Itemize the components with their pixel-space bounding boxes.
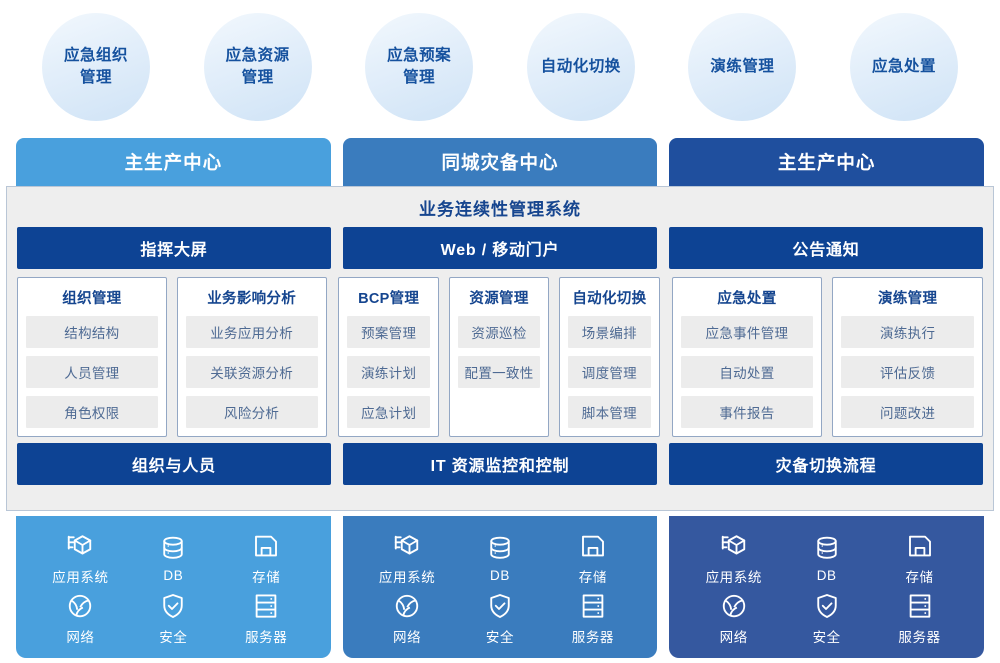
infra-item-storage[interactable]: 存储 — [578, 531, 608, 586]
data-center-header-row: 主生产中心 同城灾备中心 主生产中心 — [16, 138, 984, 190]
module-card-items: 场景编排 调度管理 脚本管理 — [568, 316, 650, 428]
storage-icon — [905, 531, 935, 561]
circle-label-line1: 应急预案 — [387, 45, 451, 67]
module-card-items: 资源巡检 配置一致性 — [458, 316, 540, 388]
infra-item-label: 网络 — [720, 626, 748, 646]
bcm-bottom-bar-row: 组织与人员 IT 资源监控和控制 灾备切换流程 — [7, 443, 993, 485]
module-item[interactable]: 自动处置 — [681, 356, 814, 388]
infra-item-label: 应用系统 — [379, 566, 435, 586]
module-card-drill-management[interactable]: 演练管理 演练执行 评估反馈 问题改进 — [832, 277, 983, 437]
server-rack-icon — [251, 591, 281, 621]
bcm-top-bar-row: 指挥大屏 Web / 移动门户 公告通知 — [7, 227, 993, 269]
module-item[interactable]: 问题改进 — [841, 396, 974, 428]
module-item[interactable]: 预案管理 — [347, 316, 429, 348]
storage-icon — [578, 531, 608, 561]
module-card-title: 业务影响分析 — [186, 287, 318, 308]
storage-icon — [251, 531, 281, 561]
module-card-title: 应急处置 — [681, 287, 814, 308]
module-card-title: 演练管理 — [841, 287, 974, 308]
bcm-bar-web-mobile-portal[interactable]: Web / 移动门户 — [343, 227, 657, 269]
circle-label-line1: 应急组织 — [64, 45, 128, 67]
center-header-primary-production-2[interactable]: 主生产中心 — [669, 138, 984, 190]
module-card-title: BCP管理 — [347, 287, 429, 308]
network-icon — [719, 591, 749, 621]
infra-item-label: 安全 — [813, 626, 841, 646]
bcm-bar-it-resource-monitoring[interactable]: IT 资源监控和控制 — [343, 443, 657, 485]
module-item[interactable]: 演练计划 — [347, 356, 429, 388]
module-card-emergency-response[interactable]: 应急处置 应急事件管理 自动处置 事件报告 — [672, 277, 823, 437]
circle-label-line2: 管理 — [64, 67, 128, 89]
module-item[interactable]: 事件报告 — [681, 396, 814, 428]
capability-circle-emergency-response[interactable]: 应急处置 — [850, 13, 958, 121]
circle-label-line2: 管理 — [387, 67, 451, 89]
capability-circle-emergency-org-management[interactable]: 应急组织 管理 — [42, 13, 150, 121]
security-shield-icon — [812, 591, 842, 621]
infra-item-label: DB — [490, 568, 510, 583]
infrastructure-panel-primary-production: 应用系统 DB — [16, 516, 331, 658]
infra-item-security[interactable]: 安全 — [158, 591, 188, 646]
infra-item-label: 存储 — [579, 566, 607, 586]
module-item[interactable]: 调度管理 — [568, 356, 650, 388]
infra-item-label: 服务器 — [245, 626, 287, 646]
bcm-architecture-diagram: 应急组织 管理 应急资源 管理 应急预案 管理 自动化切换 演练管理 — [0, 0, 1000, 663]
infra-item-label: 安全 — [159, 626, 187, 646]
database-icon — [158, 533, 188, 563]
capability-circle-emergency-resource-management[interactable]: 应急资源 管理 — [204, 13, 312, 121]
infra-item-label: 服务器 — [572, 626, 614, 646]
center-header-primary-production[interactable]: 主生产中心 — [16, 138, 331, 190]
capability-circle-drill-management[interactable]: 演练管理 — [688, 13, 796, 121]
module-item[interactable]: 应急计划 — [347, 396, 429, 428]
module-card-items: 应急事件管理 自动处置 事件报告 — [681, 316, 814, 428]
infrastructure-row: 应用系统 DB — [16, 516, 984, 658]
infrastructure-panel-metro-dr: 应用系统 DB — [343, 516, 658, 658]
infra-item-storage[interactable]: 存储 — [905, 531, 935, 586]
module-card-bcp-management[interactable]: BCP管理 预案管理 演练计划 应急计划 — [338, 277, 438, 437]
security-shield-icon — [485, 591, 515, 621]
module-item[interactable]: 场景编排 — [568, 316, 650, 348]
infra-item-label: 服务器 — [898, 626, 940, 646]
infra-item-database[interactable]: DB — [485, 533, 515, 583]
module-group-right: 应急处置 应急事件管理 自动处置 事件报告 演练管理 演练执行 评估反馈 问题改… — [672, 277, 983, 437]
module-card-items: 业务应用分析 关联资源分析 风险分析 — [186, 316, 318, 428]
infra-item-label: 应用系统 — [52, 566, 108, 586]
module-item[interactable]: 应急事件管理 — [681, 316, 814, 348]
module-card-title: 资源管理 — [458, 287, 540, 308]
module-item[interactable]: 演练执行 — [841, 316, 974, 348]
circle-label-line1: 自动化切换 — [541, 56, 621, 78]
bcm-module-strip: 组织管理 结构结构 人员管理 角色权限 业务影响分析 业务应用分析 关联资源分析… — [7, 269, 993, 437]
infra-item-storage[interactable]: 存储 — [251, 531, 281, 586]
module-card-resource-management[interactable]: 资源管理 资源巡检 配置一致性 — [449, 277, 549, 437]
module-item[interactable]: 结构结构 — [26, 316, 158, 348]
infrastructure-panel-primary-production-2: 应用系统 DB — [669, 516, 984, 658]
module-item[interactable]: 人员管理 — [26, 356, 158, 388]
infra-item-database[interactable]: DB — [812, 533, 842, 583]
application-system-icon — [719, 531, 749, 561]
infra-item-label: 安全 — [486, 626, 514, 646]
module-card-items: 结构结构 人员管理 角色权限 — [26, 316, 158, 428]
circle-label-line2: 管理 — [226, 67, 290, 89]
infra-item-network[interactable]: 网络 — [719, 591, 749, 646]
module-item[interactable]: 业务应用分析 — [186, 316, 318, 348]
infra-item-server[interactable]: 服务器 — [245, 591, 287, 646]
infra-item-server[interactable]: 服务器 — [898, 591, 940, 646]
infra-item-application-system[interactable]: 应用系统 — [379, 531, 435, 586]
bcm-bar-dr-switchover-process[interactable]: 灾备切换流程 — [669, 443, 983, 485]
security-shield-icon — [158, 591, 188, 621]
infra-item-label: 应用系统 — [706, 566, 762, 586]
module-group-middle: BCP管理 预案管理 演练计划 应急计划 资源管理 资源巡检 配置一致性 自动化 — [338, 277, 659, 437]
module-card-title: 组织管理 — [26, 287, 158, 308]
module-item[interactable]: 关联资源分析 — [186, 356, 318, 388]
module-card-items: 演练执行 评估反馈 问题改进 — [841, 316, 974, 428]
module-card-title: 自动化切换 — [568, 287, 650, 308]
infra-item-security[interactable]: 安全 — [485, 591, 515, 646]
bcm-panel-title: 业务连续性管理系统 — [7, 187, 993, 227]
infra-item-application-system[interactable]: 应用系统 — [706, 531, 762, 586]
module-item[interactable]: 脚本管理 — [568, 396, 650, 428]
capability-circle-automation-switchover[interactable]: 自动化切换 — [527, 13, 635, 121]
bcm-bar-command-dashboard[interactable]: 指挥大屏 — [17, 227, 331, 269]
infra-item-label: DB — [163, 568, 183, 583]
server-rack-icon — [578, 591, 608, 621]
infra-item-application-system[interactable]: 应用系统 — [52, 531, 108, 586]
infra-item-label: 存储 — [252, 566, 280, 586]
infra-item-label: 网络 — [393, 626, 421, 646]
circle-label-line1: 应急资源 — [226, 45, 290, 67]
module-item[interactable]: 评估反馈 — [841, 356, 974, 388]
module-item[interactable]: 资源巡检 — [458, 316, 540, 348]
capability-circle-row: 应急组织 管理 应急资源 管理 应急预案 管理 自动化切换 演练管理 — [0, 8, 1000, 126]
server-rack-icon — [905, 591, 935, 621]
database-icon — [485, 533, 515, 563]
module-card-items: 预案管理 演练计划 应急计划 — [347, 316, 429, 428]
module-item[interactable]: 风险分析 — [186, 396, 318, 428]
network-icon — [392, 591, 422, 621]
bcm-system-panel: 业务连续性管理系统 指挥大屏 Web / 移动门户 公告通知 组织管理 结构结构… — [6, 186, 994, 511]
module-card-automation-switchover[interactable]: 自动化切换 场景编排 调度管理 脚本管理 — [559, 277, 659, 437]
module-card-business-impact-analysis[interactable]: 业务影响分析 业务应用分析 关联资源分析 风险分析 — [177, 277, 327, 437]
infra-item-network[interactable]: 网络 — [65, 591, 95, 646]
bcm-bar-org-and-people[interactable]: 组织与人员 — [17, 443, 331, 485]
infra-item-security[interactable]: 安全 — [812, 591, 842, 646]
infra-item-label: 网络 — [66, 626, 94, 646]
circle-label-line1: 演练管理 — [710, 56, 774, 78]
application-system-icon — [392, 531, 422, 561]
bcm-bar-announcement[interactable]: 公告通知 — [669, 227, 983, 269]
module-card-org-management[interactable]: 组织管理 结构结构 人员管理 角色权限 — [17, 277, 167, 437]
infra-item-label: DB — [817, 568, 837, 583]
infra-item-server[interactable]: 服务器 — [572, 591, 614, 646]
module-item[interactable]: 角色权限 — [26, 396, 158, 428]
infra-item-database[interactable]: DB — [158, 533, 188, 583]
module-item[interactable]: 配置一致性 — [458, 356, 540, 388]
center-header-metro-dr[interactable]: 同城灾备中心 — [343, 138, 658, 190]
infra-item-label: 存储 — [905, 566, 933, 586]
module-group-left: 组织管理 结构结构 人员管理 角色权限 业务影响分析 业务应用分析 关联资源分析… — [17, 277, 326, 437]
network-icon — [65, 591, 95, 621]
application-system-icon — [65, 531, 95, 561]
capability-circle-emergency-plan-management[interactable]: 应急预案 管理 — [365, 13, 473, 121]
circle-label-line1: 应急处置 — [872, 56, 936, 78]
database-icon — [812, 533, 842, 563]
infra-item-network[interactable]: 网络 — [392, 591, 422, 646]
